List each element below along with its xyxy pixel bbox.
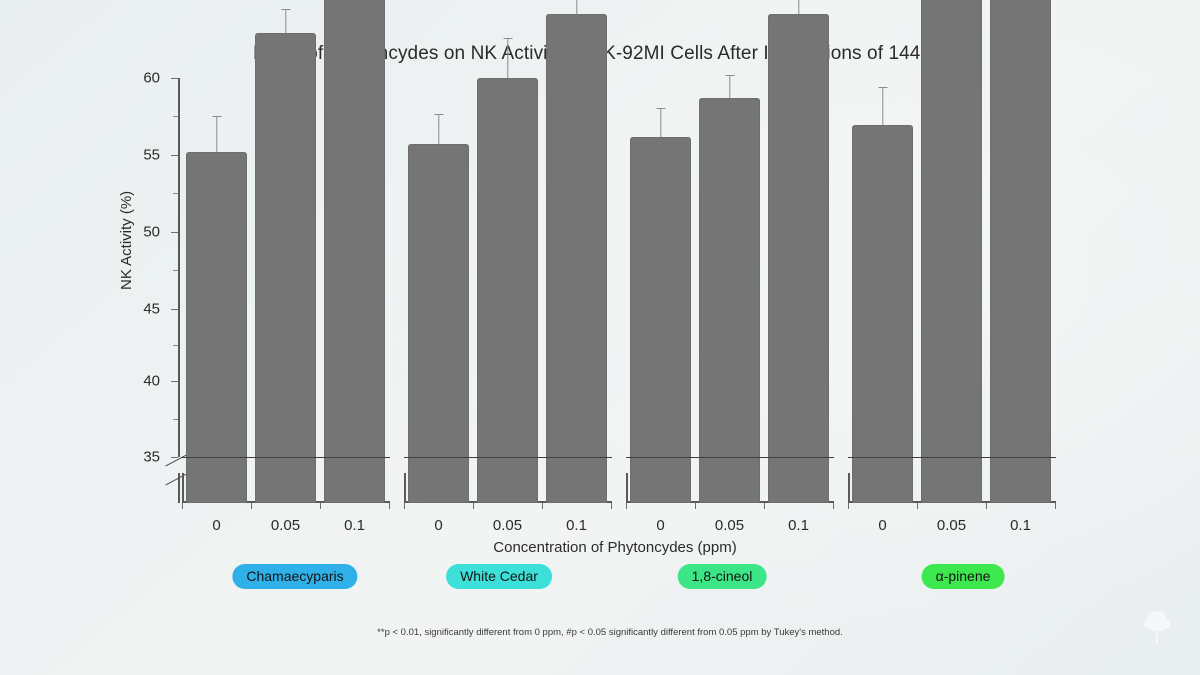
y-tick-55: 55 <box>171 155 178 156</box>
y-minor-tick-47-5 <box>173 270 178 271</box>
group-pill-18-cineol[interactable]: 1,8-cineol <box>678 564 767 589</box>
group-threshold-line <box>848 457 1056 458</box>
bar-slot[interactable]: ** 0.1 <box>546 78 607 503</box>
bar-slot[interactable]: 0 <box>852 78 913 503</box>
bar-group-chamaecyparis: 0 ** 0.05 ** 0.1 <box>182 78 390 503</box>
x-tick <box>182 503 183 509</box>
bar[interactable] <box>255 33 316 503</box>
x-tick <box>764 503 765 509</box>
y-tick-label-0: 0 <box>152 495 160 512</box>
bar[interactable] <box>408 144 469 503</box>
x-tick <box>848 503 849 509</box>
bar[interactable] <box>477 78 538 503</box>
x-tick <box>695 503 696 509</box>
x-tick <box>833 503 834 509</box>
group-pill-alpha-pinene[interactable]: α-pinene <box>922 564 1005 589</box>
bar-group-white-cedar: 0 0.05 ** 0.1 <box>404 78 612 503</box>
significance-marker: ** <box>281 0 291 5</box>
y-tick-label-55: 55 <box>143 147 160 164</box>
y-tick-label-35: 35 <box>143 449 160 466</box>
error-bar-cap <box>878 87 887 88</box>
y-tick-label-50: 50 <box>143 224 160 241</box>
group-threshold-line <box>182 457 390 458</box>
x-axis-title: Concentration of Phytoncydes (ppm) <box>0 539 1200 556</box>
group-left-axis-tick <box>182 473 184 503</box>
x-tick-label: 0.1 <box>1010 517 1031 534</box>
error-bar-cap <box>212 116 221 117</box>
x-tick-label: 0 <box>656 517 664 534</box>
x-tick-label: 0 <box>434 517 442 534</box>
bar-slot[interactable]: ** 0.1 <box>324 78 385 503</box>
y-axis-title: NK Activity (%) <box>118 191 135 290</box>
y-tick-60: 60 <box>171 78 178 79</box>
x-tick-label: 0 <box>212 517 220 534</box>
error-bar-cap <box>434 114 443 115</box>
x-tick <box>404 503 405 509</box>
bar[interactable] <box>324 0 385 503</box>
y-tick-label-45: 45 <box>143 301 160 318</box>
plot-area: 60 55 50 45 40 35 0 <box>178 78 1058 503</box>
bar-group-18-cineol: 0 0.05 # ** 0.1 <box>626 78 834 503</box>
x-tick <box>473 503 474 509</box>
error-bar-cap <box>725 75 734 76</box>
group-pill-white-cedar[interactable]: White Cedar <box>446 564 552 589</box>
bar-group-alpha-pinene: 0 ** 0.05 ** 0.1 <box>848 78 1056 503</box>
x-tick-label: 0.1 <box>344 517 365 534</box>
bar-slot[interactable]: 0.05 <box>477 78 538 503</box>
y-minor-tick-52-5 <box>173 193 178 194</box>
bar[interactable] <box>186 152 247 503</box>
bar[interactable] <box>768 14 829 503</box>
x-tick-label: 0.05 <box>937 517 966 534</box>
group-threshold-line <box>626 457 834 458</box>
y-minor-tick-42-5 <box>173 345 178 346</box>
error-bar <box>507 39 508 78</box>
bar[interactable] <box>852 125 913 503</box>
bar-slot[interactable]: ** 0.1 <box>990 78 1051 503</box>
error-bar <box>882 88 883 125</box>
error-bar-cap <box>281 9 290 10</box>
error-bar <box>660 109 661 137</box>
error-bar <box>576 0 577 14</box>
error-bar <box>798 0 799 14</box>
x-tick <box>1055 503 1056 509</box>
x-tick-label: 0.05 <box>493 517 522 534</box>
x-tick-label: 0.05 <box>271 517 300 534</box>
y-tick-label-40: 40 <box>143 373 160 390</box>
bar-slot[interactable]: ** 0.05 <box>255 78 316 503</box>
error-bar <box>438 115 439 144</box>
bar-slot[interactable]: 0.05 <box>699 78 760 503</box>
group-left-axis-tick <box>404 473 406 503</box>
y-tick-40: 40 <box>171 381 178 382</box>
y-tick-45: 45 <box>171 309 178 310</box>
bar-slot[interactable]: ** 0.05 <box>921 78 982 503</box>
error-bar <box>729 76 730 98</box>
error-bar-cap <box>656 108 665 109</box>
bar-slot[interactable]: 0 <box>408 78 469 503</box>
x-tick <box>542 503 543 509</box>
y-axis-line <box>178 78 180 457</box>
x-tick-label: 0.1 <box>788 517 809 534</box>
bar[interactable] <box>699 98 760 503</box>
bar-slot[interactable]: 0 <box>186 78 247 503</box>
group-left-axis-tick <box>848 473 850 503</box>
bar-slot[interactable]: # ** 0.1 <box>768 78 829 503</box>
x-tick <box>917 503 918 509</box>
y-tick-50: 50 <box>171 232 178 233</box>
tree-icon <box>1140 609 1174 645</box>
x-tick-label: 0.05 <box>715 517 744 534</box>
bar[interactable] <box>630 137 691 503</box>
y-minor-tick-37-5 <box>173 419 178 420</box>
bar-slot[interactable]: 0 <box>630 78 691 503</box>
slide-canvas: Effect of Phytoncydes on NK Activity of … <box>0 0 1200 675</box>
error-bar-cap <box>503 38 512 39</box>
y-minor-tick-57-5 <box>173 116 178 117</box>
x-tick <box>251 503 252 509</box>
error-bar <box>285 10 286 33</box>
footnote: **p < 0.01, significantly different from… <box>0 627 1200 638</box>
group-threshold-line <box>404 457 612 458</box>
x-tick <box>986 503 987 509</box>
x-tick <box>626 503 627 509</box>
error-bar <box>216 117 217 152</box>
x-tick-label: 0.1 <box>566 517 587 534</box>
x-tick <box>389 503 390 509</box>
group-pill-chamaecyparis[interactable]: Chamaecyparis <box>232 564 357 589</box>
bar[interactable] <box>921 0 982 503</box>
group-left-axis-tick <box>626 473 628 503</box>
x-tick <box>611 503 612 509</box>
y-tick-label-60: 60 <box>143 70 160 87</box>
x-tick <box>320 503 321 509</box>
bar[interactable] <box>546 14 607 503</box>
bar[interactable] <box>990 0 1051 503</box>
x-tick-label: 0 <box>878 517 886 534</box>
